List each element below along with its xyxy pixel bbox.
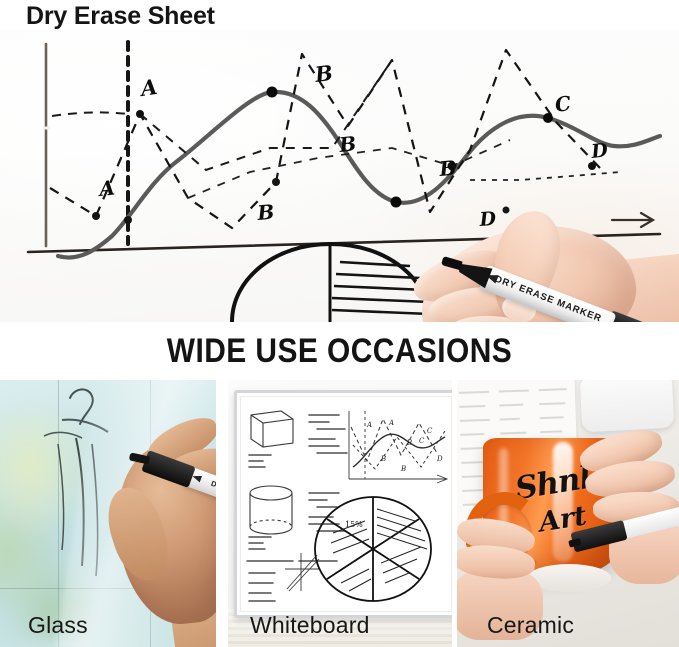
page-title: Dry Erase Sheet [26, 0, 215, 32]
svg-text:B: B [337, 131, 357, 157]
title-bar: Dry Erase Sheet [0, 0, 679, 32]
whiteboard-notes: AA BB CC DB [241, 397, 451, 611]
svg-text:B: B [255, 200, 275, 225]
svg-text:C: C [427, 427, 433, 435]
marker-tip [441, 256, 463, 270]
svg-text:D: D [436, 455, 443, 463]
product-image: Dry Erase Sheet [0, 0, 679, 647]
section-banner: WIDE USE OCCASIONS [0, 322, 679, 380]
panel-caption-ceramic: Ceramic [487, 612, 574, 639]
pie-slice-label: 15% [345, 520, 363, 529]
svg-text:A: A [137, 74, 159, 101]
svg-text:B: B [406, 439, 412, 447]
svg-text:C: C [553, 91, 572, 117]
svg-text:A: A [96, 175, 116, 201]
panel-caption-glass: Glass [28, 612, 88, 639]
svg-text:B: B [437, 156, 457, 181]
hand-writing-on-mug [565, 426, 679, 576]
svg-text:D: D [589, 139, 609, 163]
hero-whiteboard-photo: A A B B B B C D D [0, 30, 679, 322]
use-case-panels: DRY ERASE MARKER Glass [0, 380, 679, 647]
banner-heading: WIDE USE OCCASIONS [41, 322, 639, 380]
panel-glass: DRY ERASE MARKER Glass [0, 380, 216, 647]
svg-text:A: A [388, 419, 394, 427]
hand-holding-marker: DRY ERASE MARKER [398, 200, 679, 322]
panel-whiteboard: AA BB CC DB [228, 380, 452, 647]
svg-text:C: C [419, 437, 425, 445]
whiteboard-frame: AA BB CC DB [234, 390, 452, 618]
svg-text:B: B [380, 455, 386, 463]
svg-text:B: B [313, 60, 335, 87]
whiteboard-surface: AA BB CC DB [240, 396, 452, 612]
svg-text:B: B [400, 465, 406, 473]
white-tray [580, 380, 675, 432]
hand-writing-on-glass: DRY ERASE MARKER [112, 414, 216, 644]
svg-text:A: A [366, 421, 372, 429]
panel-caption-whiteboard: Whiteboard [250, 612, 370, 639]
panel-ceramic: Shnle Art Ceramic [457, 380, 679, 647]
